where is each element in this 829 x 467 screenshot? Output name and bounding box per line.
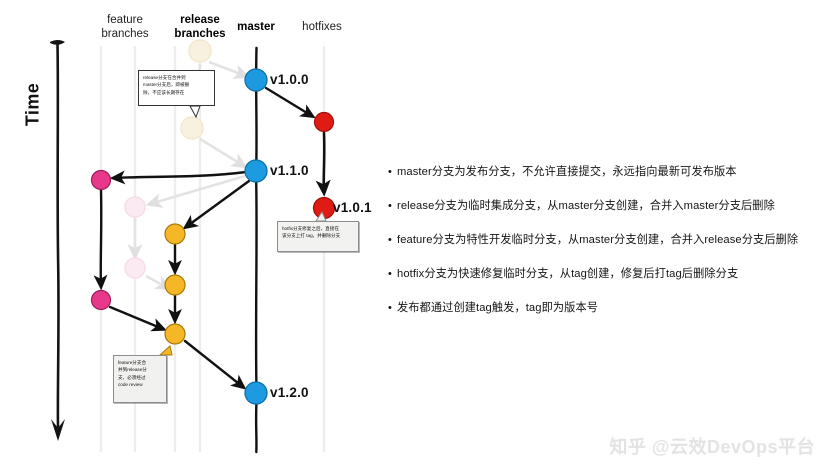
node-feature-commit-1: [92, 171, 111, 190]
note-text: hotfix分支为快速修复临时分支，从tag创建，修复后打tag后删除分支: [397, 267, 738, 282]
callout-feature: feature分支合 并到release分 支，必须经过 code review: [113, 355, 167, 403]
callout-hotfix-line-1: hotfix分支修复之后，直接在: [282, 225, 354, 232]
note-bullet: •: [388, 267, 397, 282]
note-bullet: •: [388, 199, 397, 214]
callout-leaders: [190, 106, 200, 117]
callout-hotfix: hotfix分支修复之后，直接在 该分支上打 tag，并删除分支: [277, 221, 359, 252]
node-hotfix-commit: [315, 113, 334, 132]
version-label-v100: v1.0.0: [270, 72, 309, 87]
node-master-v120: [245, 382, 267, 404]
note-bullet: •: [388, 301, 397, 316]
node-feature-commit-2: [92, 291, 111, 310]
callout-release-line-2: master分支后，即被删: [143, 81, 210, 88]
note-release: • release分支为临时集成分支，从master分支创建，合并入master…: [388, 199, 818, 214]
callout-release: release分支在合并到 master分支后，即被删 除，不应该长期存在: [138, 70, 215, 106]
node-master-v100: [245, 69, 267, 91]
feature-trunk: [101, 190, 102, 286]
note-bullet: •: [388, 233, 397, 248]
callout-leader-feature: [160, 346, 172, 355]
node-master-v110: [245, 160, 267, 182]
callout-hotfix-line-2: 该分支上打 tag，并删除分支: [282, 232, 354, 239]
watermark: 知乎 @云效DevOps平台: [609, 433, 815, 459]
note-text: release分支为临时集成分支，从master分支创建，合并入master分支…: [397, 199, 775, 214]
version-label-v120: v1.2.0: [270, 385, 309, 400]
note-master: • master分支为发布分支，不允许直接提交，永远指向最新可发布版本: [388, 165, 818, 180]
diagram-canvas: Time feature branches release branches m…: [0, 0, 829, 467]
callout-feature-line-1: feature分支合: [118, 359, 162, 366]
callout-feature-line-3: 支，必须经过: [118, 374, 162, 381]
notes-list: • master分支为发布分支，不允许直接提交，永远指向最新可发布版本 • re…: [388, 165, 818, 335]
callout-release-line-1: release分支在合并到: [143, 74, 210, 81]
note-text: master分支为发布分支，不允许直接提交，永远指向最新可发布版本: [397, 165, 737, 180]
note-text: 发布都通过创建tag触发，tag即为版本号: [397, 301, 598, 316]
note-hotfix: • hotfix分支为快速修复临时分支，从tag创建，修复后打tag后删除分支: [388, 267, 818, 282]
version-label-v110: v1.1.0: [270, 163, 309, 178]
version-label-v101: v1.0.1: [333, 200, 372, 215]
note-bullet: •: [388, 165, 397, 180]
note-tag: • 发布都通过创建tag触发，tag即为版本号: [388, 301, 818, 316]
hotfix-trunk: [324, 133, 325, 192]
node-release-commit-1: [165, 224, 185, 244]
node-release-commit-2: [165, 275, 185, 295]
callout-feature-line-2: 并到release分: [118, 366, 162, 373]
callout-release-line-3: 除，不应该长期存在: [143, 89, 210, 96]
note-feature: • feature分支为特性开发临时分支，从master分支创建，合并入rele…: [388, 233, 818, 248]
callout-feature-line-4: code review: [118, 381, 162, 388]
node-release-commit-3: [165, 324, 185, 344]
note-text: feature分支为特性开发临时分支，从master分支创建，合并入releas…: [397, 233, 798, 248]
